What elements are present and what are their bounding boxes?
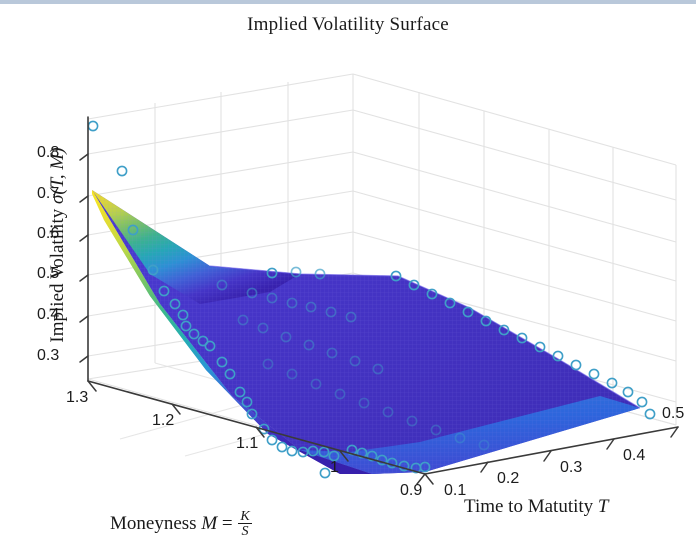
x-tick-4: 0.5 (662, 405, 684, 423)
x-axis-title: Time to Matutity T (464, 496, 608, 518)
figure-canvas: Implied Volatility Surface (0, 4, 696, 555)
x-tick-2: 0.3 (560, 459, 582, 477)
z-axis-title-prefix: Implied Volatility (47, 204, 68, 343)
x-axis-title-prefix: Time to Matutity (464, 496, 598, 517)
moneyness-fraction: KS (238, 509, 251, 539)
z-axis-title-symbol: σ(T, M) (47, 147, 68, 204)
y-tick-3: 1 (330, 459, 339, 477)
z-axis-title: Implied Volatility σ(T, M) (47, 95, 69, 395)
surface-plot (0, 4, 696, 555)
volatility-surface (80, 174, 660, 484)
y-tick-1: 1.2 (152, 412, 174, 430)
y-axis-title-equals: = (217, 513, 237, 534)
y-axis-title-symbol: M (201, 513, 217, 534)
x-tick-3: 0.4 (623, 447, 645, 465)
z-axis-title-text: Implied Volatility σ(T, M) (47, 147, 68, 342)
y-axis-title-prefix: Moneyness (110, 513, 201, 534)
moneyness-fraction-denominator: S (238, 524, 251, 538)
x-tick-0: 0.1 (444, 482, 466, 500)
moneyness-fraction-numerator: K (238, 509, 251, 524)
y-tick-2: 1.1 (236, 435, 258, 453)
y-tick-0: 1.3 (66, 389, 88, 407)
x-tick-1: 0.2 (497, 470, 519, 488)
x-axis-title-symbol: T (598, 496, 609, 517)
y-axis-title: Moneyness M = KS (110, 509, 252, 539)
y-tick-4: 0.9 (400, 482, 422, 500)
